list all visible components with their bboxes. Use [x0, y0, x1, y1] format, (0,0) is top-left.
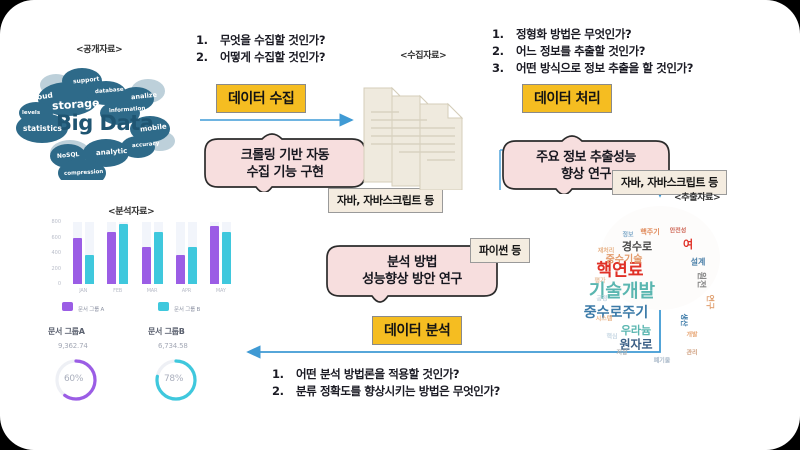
bar-FEB-b — [119, 224, 128, 284]
wordcloud-term: 공정 — [596, 294, 607, 303]
question-row: 2.어떻게 수집할 것인가? — [196, 49, 325, 66]
bar-MAR-b — [154, 232, 163, 284]
diagram-canvas: <공개자료> Big — [0, 0, 800, 450]
wordcloud-term: 생산 — [679, 314, 689, 327]
question-text: 어느 정보를 추출할 것인가? — [516, 43, 645, 60]
question-row: 1.무엇을 수집할 것인가? — [196, 32, 325, 49]
document-stack — [362, 78, 492, 188]
x-tick-label: MAR — [137, 288, 167, 294]
callout-collect-line1: 크롤링 기반 자동 — [202, 147, 368, 164]
caption-public-data: <공개자료> — [76, 42, 122, 55]
bar-chart: 8006004002000JANFEBMARAPRMAY문서 그룹 A문서 그룹… — [44, 218, 244, 318]
question-text: 어떤 방식으로 정보 추출을 할 것인가? — [516, 60, 693, 77]
stage-label-process[interactable]: 데이터 처리 — [522, 84, 612, 113]
wordcloud-term: 연구 — [705, 295, 716, 310]
question-number: 2. — [492, 43, 516, 60]
tag-collect-tech: 자바, 자바스크립트 등 — [328, 188, 443, 213]
wordcloud-term: 정보 — [622, 230, 633, 239]
wordcloud-term: 여 — [683, 236, 693, 252]
question-number: 1. — [196, 32, 220, 49]
wordcloud-term: 평가 — [594, 276, 605, 285]
question-row: 3.어떤 방식으로 정보 추출을 할 것인가? — [492, 60, 693, 77]
question-text: 정형화 방법은 무엇인가? — [516, 26, 631, 43]
x-tick-label: MAY — [206, 288, 236, 294]
x-tick-label: JAN — [68, 288, 98, 294]
wordcloud-term: 저장 — [616, 348, 627, 357]
legend-label: 문서 그룹 A — [78, 305, 104, 313]
legend-swatch — [158, 302, 169, 311]
y-tick-label: 800 — [44, 219, 61, 225]
legend-swatch — [62, 302, 73, 311]
questions-collect: 1.무엇을 수집할 것인가?2.어떻게 수집할 것인가? — [196, 32, 325, 66]
y-tick-label: 0 — [44, 281, 61, 287]
stage-label-collect[interactable]: 데이터 수집 — [216, 84, 306, 113]
bar-APR-b — [188, 247, 197, 284]
question-text: 무엇을 수집할 것인가? — [220, 32, 325, 49]
question-number: 1. — [492, 26, 516, 43]
bar-APR-a — [176, 255, 185, 284]
wordcloud-term: 재처리 — [598, 246, 615, 255]
y-tick-label: 600 — [44, 235, 61, 241]
question-number: 3. — [492, 60, 516, 77]
wordcloud-term: 원전 — [696, 272, 709, 289]
tag-analyze-tech: 파이썬 등 — [470, 238, 530, 263]
bigdata-cloud-graphic: Big Data cloudstoragesupportdatabaseleve… — [10, 55, 190, 180]
bigdata-title: Big Data — [56, 111, 153, 135]
question-text: 어떻게 수집할 것인가? — [220, 49, 325, 66]
wordcloud-term: 시스템 — [596, 314, 613, 323]
x-tick-label: APR — [171, 288, 201, 294]
kpi-value: 9,362.74 — [58, 342, 88, 350]
questions-process: 1.정형화 방법은 무엇인가?2.어느 정보를 추출할 것인가?3.어떤 방식으… — [492, 26, 693, 77]
kpi-percent: 60% — [64, 374, 83, 384]
wordcloud-term: 관리 — [686, 348, 697, 357]
x-tick-label: FEB — [103, 288, 133, 294]
callout-process-line1: 주요 정보 추출성능 — [500, 149, 672, 166]
wordcloud-graphic: 핵연료기술개발중수로주기우라늄원자로경수로중수기술여정보핵주기안전성재처리설계원… — [592, 202, 728, 312]
question-text: 분류 정확도를 향상시키는 방법은 무엇인가? — [296, 383, 500, 400]
kpi-group: 문서 그룹A9,362.7460%문서 그룹B6,734.5878% — [44, 326, 254, 418]
caption-analysis-data: <분석자료> — [108, 204, 154, 217]
wordcloud-term: 핵심 — [606, 332, 617, 341]
bar-JAN-a — [73, 238, 82, 285]
question-row: 2.분류 정확도를 향상시키는 방법은 무엇인가? — [272, 383, 500, 400]
bar-MAY-a — [210, 226, 219, 284]
wordcloud-term: 중수로주기 — [584, 302, 648, 322]
bar-MAY-b — [222, 232, 231, 284]
bar-JAN-b — [85, 255, 94, 284]
callout-collect[interactable]: 크롤링 기반 자동 수집 기능 구현 — [202, 130, 368, 190]
bar-MAR-a — [142, 247, 151, 284]
callout-collect-line2: 수집 기능 구현 — [202, 164, 368, 181]
wordcloud-term: 개발 — [686, 330, 697, 339]
bar-FEB-a — [107, 232, 116, 284]
question-number: 1. — [272, 366, 296, 383]
kpi-name: 문서 그룹A — [48, 326, 85, 337]
wordcloud-term: 핵주기 — [640, 227, 659, 237]
question-number: 2. — [196, 49, 220, 66]
y-tick-label: 400 — [44, 250, 61, 256]
question-number: 2. — [272, 383, 296, 400]
kpi-value: 6,734.58 — [158, 342, 188, 350]
question-row: 1.정형화 방법은 무엇인가? — [492, 26, 693, 43]
wordcloud-term: 안전성 — [670, 226, 687, 235]
kpi-percent: 78% — [164, 374, 183, 384]
question-text: 어떤 분석 방법론을 적용할 것인가? — [296, 366, 459, 383]
wordcloud-term: 설계 — [691, 257, 706, 268]
question-row: 2.어느 정보를 추출할 것인가? — [492, 43, 693, 60]
kpi-name: 문서 그룹B — [148, 326, 185, 337]
caption-collected-data: <수집자료> — [400, 48, 446, 61]
questions-analyze: 1.어떤 분석 방법론을 적용할 것인가?2.분류 정확도를 향상시키는 방법은… — [272, 366, 500, 400]
question-row: 1.어떤 분석 방법론을 적용할 것인가? — [272, 366, 500, 383]
stage-label-analyze[interactable]: 데이터 분석 — [372, 316, 462, 345]
wordcloud-term: 폐기물 — [654, 356, 671, 365]
y-tick-label: 200 — [44, 266, 61, 272]
callout-analyze-line2: 성능향상 방안 연구 — [324, 271, 500, 288]
legend-label: 문서 그룹 B — [174, 305, 200, 313]
